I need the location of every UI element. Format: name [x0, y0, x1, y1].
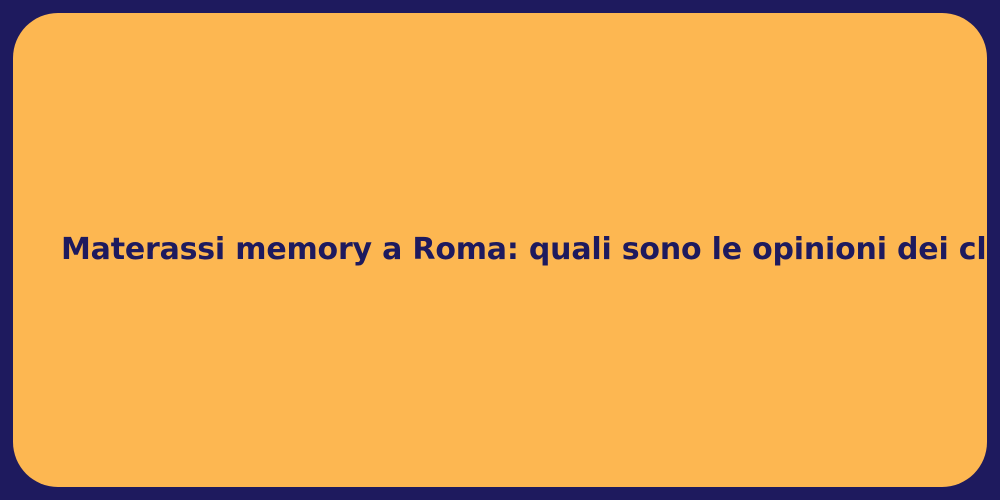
content-panel: Materassi memory a Roma: quali sono le o… — [13, 13, 987, 487]
outer-frame: Materassi memory a Roma: quali sono le o… — [0, 0, 1000, 500]
page-title: Materassi memory a Roma: quali sono le o… — [61, 231, 1000, 269]
